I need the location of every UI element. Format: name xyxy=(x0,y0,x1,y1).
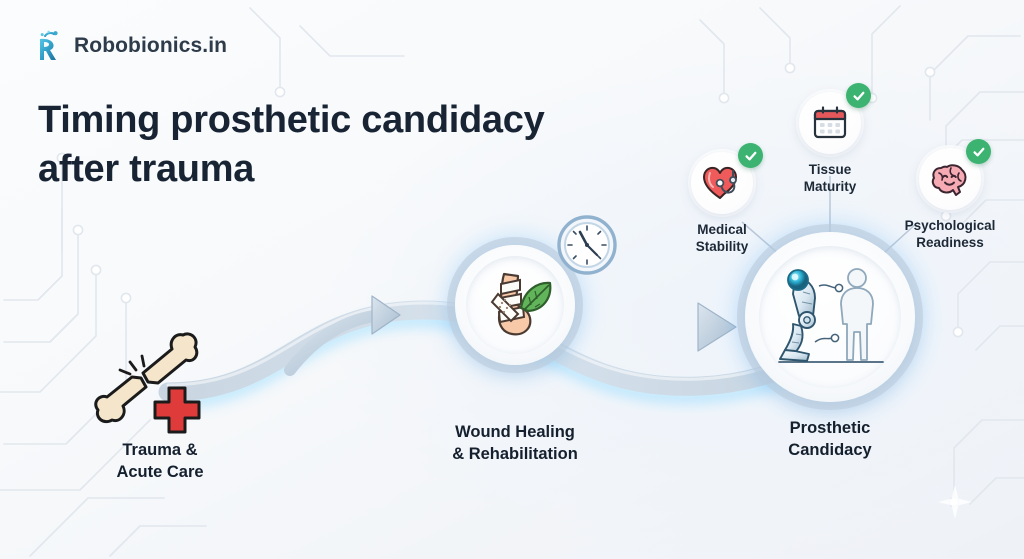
check-circle-icon xyxy=(738,143,763,168)
criterion-medical-bubble xyxy=(691,152,753,214)
stage-wound-healing[interactable]: Wound Healing & Rehabilitation xyxy=(425,236,605,476)
clock-icon xyxy=(556,214,618,276)
stage-trauma-label-line2: Acute Care xyxy=(116,462,203,484)
bandaged-foot-with-leaf-icon xyxy=(474,264,556,346)
criterion-medical-label-line1: Medical xyxy=(662,221,782,238)
check-circle-icon xyxy=(966,139,991,164)
criterion-tissue-maturity[interactable]: Tissue Maturity xyxy=(770,92,890,195)
criterion-medical-stability[interactable]: Medical Stability xyxy=(662,152,782,255)
stage-wound-label: Wound Healing & Rehabilitation xyxy=(452,422,578,466)
broken-bone-with-medical-cross-icon xyxy=(86,330,216,435)
infographic-canvas: Robobionics.in Timing prosthetic candida… xyxy=(0,0,1024,559)
brand-logo: Robobionics.in xyxy=(34,30,227,62)
brain-icon xyxy=(929,159,971,199)
criterion-psychological-readiness[interactable]: Psychological Readiness xyxy=(890,148,1010,251)
criterion-psych-bubble xyxy=(919,148,981,210)
criterion-tissue-bubble xyxy=(799,92,861,154)
stage-prosthetic-label-line2: Candidacy xyxy=(788,440,871,462)
page-title: Timing prosthetic candidacy after trauma xyxy=(38,96,638,193)
stage-wound-ring-inner xyxy=(466,256,564,354)
stage-wound-label-line2: & Rehabilitation xyxy=(452,444,578,466)
stage-trauma-label-line1: Trauma & xyxy=(116,440,203,462)
check-circle-icon xyxy=(846,83,871,108)
page-title-line2: after trauma xyxy=(38,145,638,194)
stage-trauma-acute-care[interactable]: Trauma & Acute Care xyxy=(60,330,260,510)
criterion-psych-label-line1: Psychological xyxy=(890,217,1010,234)
brand-name: Robobionics.in xyxy=(74,34,227,58)
calendar-icon xyxy=(810,103,850,143)
stage-wound-label-line1: Wound Healing xyxy=(452,422,578,444)
criterion-medical-label: Medical Stability xyxy=(662,221,782,255)
curved-arrow-right-icon xyxy=(290,296,400,370)
page-title-line1: Timing prosthetic candidacy xyxy=(38,96,638,145)
heart-stethoscope-icon xyxy=(701,163,743,203)
stage-prosthetic-label-line1: Prosthetic xyxy=(788,418,871,440)
criterion-tissue-label-line2: Maturity xyxy=(770,178,890,195)
stage-prosthetic-ring xyxy=(745,232,915,402)
criterion-medical-label-line2: Stability xyxy=(662,238,782,255)
sparkle-icon xyxy=(938,485,972,519)
robobionics-r-icon xyxy=(34,30,64,62)
criterion-psych-label-line2: Readiness xyxy=(890,234,1010,251)
stage-trauma-label: Trauma & Acute Care xyxy=(116,440,203,484)
criterion-tissue-label: Tissue Maturity xyxy=(770,161,890,195)
criterion-psych-label: Psychological Readiness xyxy=(890,217,1010,251)
stage-prosthetic-label: Prosthetic Candidacy xyxy=(788,418,871,462)
stage-prosthetic-candidacy[interactable]: Prosthetic Candidacy xyxy=(730,222,930,482)
arrow-right-icon xyxy=(626,303,736,351)
criterion-tissue-label-line1: Tissue xyxy=(770,161,890,178)
robotic-leg-and-human-silhouette-icon xyxy=(767,258,893,376)
stage-prosthetic-ring-inner xyxy=(759,246,901,388)
